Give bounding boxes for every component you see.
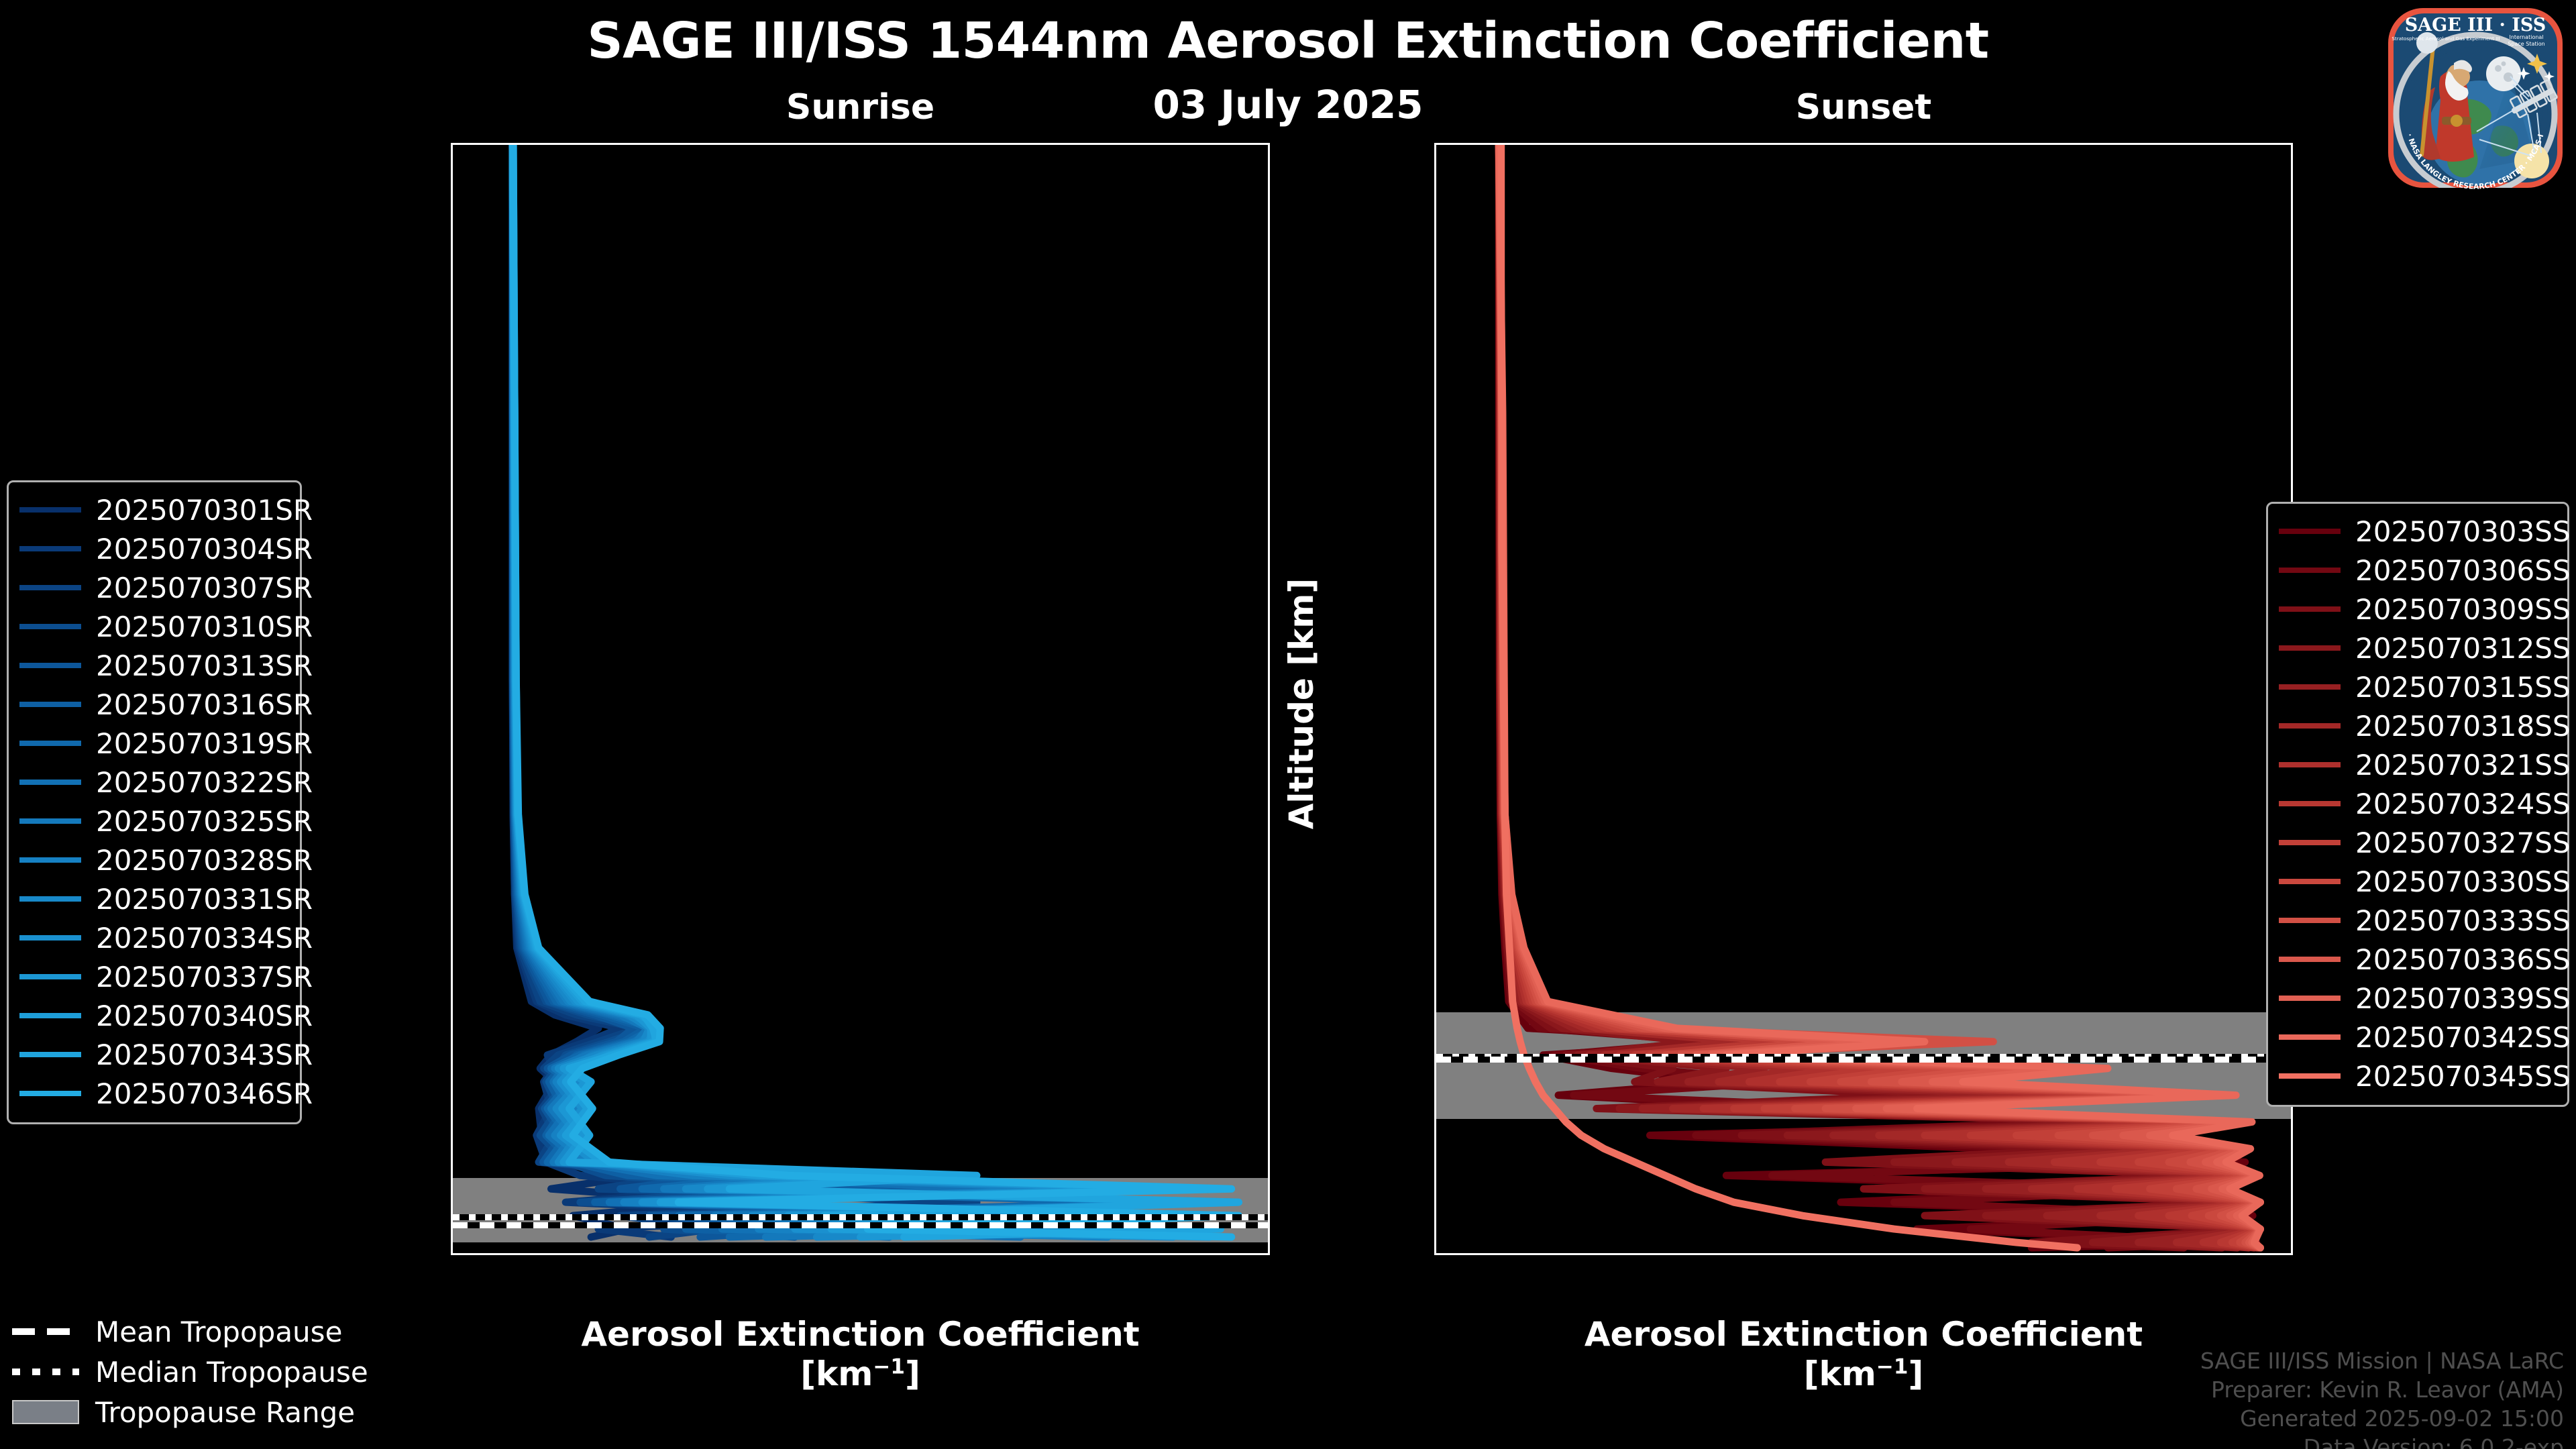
footer-preparer: Preparer: Kevin R. Leavor (AMA) [2200,1376,2564,1405]
legend-sunset-item[interactable]: 2025070327SS [2279,823,2557,862]
legend-sunrise-item[interactable]: 2025070322SR [19,763,289,802]
legend-sunset-label: 2025070324SS [2355,788,2571,820]
series-lines [453,145,1268,1253]
x-axis-units-sunrise: [km−1] [451,1354,1270,1394]
legend-sunset-item[interactable]: 2025070303SS [2279,512,2557,551]
legend-sunrise-item[interactable]: 2025070325SR [19,802,289,841]
y-axis-tick [451,278,453,280]
x-axis-tick [1802,1253,1804,1255]
y-axis-tick [451,1215,453,1217]
legend-sunrise-label: 2025070322SR [96,766,313,799]
x-axis-tick [1238,1253,1240,1255]
legend-sunrise-item[interactable]: 2025070337SR [19,957,289,996]
legend-sunset-label: 2025070309SS [2355,593,2571,626]
legend-sunrise-label: 2025070319SR [96,727,313,760]
legend-sunset-label: 2025070312SS [2355,632,2571,665]
legend-sunrise-label: 2025070325SR [96,805,313,838]
logo-subtitle-right-2: Space Station [2508,41,2544,47]
x-axis-tick [510,1253,512,1255]
line-swatch-icon [19,818,81,824]
legend-sunset-item[interactable]: 2025070312SS [2279,629,2557,667]
legend-sunset-label: 2025070303SS [2355,515,2571,548]
legend-sunrise-label: 2025070310SR [96,610,313,643]
x-axis-tick [2259,1253,2261,1255]
panel-title-sunset: Sunset [1434,87,2293,127]
legend-sunrise-item[interactable]: 2025070343SR [19,1035,289,1074]
mean-tropopause-line [453,1222,1268,1228]
series-line [513,145,1237,1237]
legend-sunrise-label: 2025070328SR [96,844,313,877]
legend-sunrise-label: 2025070301SR [96,494,313,527]
x-axis-units-sunset: [km−1] [1434,1354,2293,1394]
legend-sunset-label: 2025070333SS [2355,904,2571,937]
line-swatch-icon [19,1052,81,1057]
legend-sunrise-item[interactable]: 2025070307SR [19,568,289,607]
line-swatch-icon [2279,762,2341,767]
dotted-line-icon [12,1368,79,1375]
footer-generated: Generated 2025-09-02 15:00 [2200,1405,2564,1434]
plot-area-sunset [1436,145,2291,1253]
panel-title-sunrise: Sunrise [451,87,1270,127]
legend-sunset-item[interactable]: 2025070342SS [2279,1018,2557,1057]
line-swatch-icon [2279,996,2341,1001]
series-line [513,145,1130,1237]
y-axis-tick [451,680,453,682]
line-swatch-icon [2279,684,2341,690]
series-line [513,145,1224,1237]
y-axis-tick [1434,278,1436,280]
x-axis-tick [1954,1253,1956,1255]
line-swatch-icon [19,896,81,902]
legend-label-mean-tropopause: Mean Tropopause [95,1316,342,1348]
page-title: SAGE III/ISS 1544nm Aerosol Extinction C… [0,12,2576,70]
median-tropopause-line [453,1214,1268,1220]
logo-subtitle-right-1: International [2509,34,2543,40]
legend-sunset-item[interactable]: 2025070309SS [2279,590,2557,629]
legend-sunset-label: 2025070306SS [2355,554,2571,587]
line-swatch-icon [19,741,81,746]
legend-sunrise-label: 2025070331SR [96,883,313,916]
line-swatch-icon [19,702,81,707]
x-axis-tick [2107,1253,2109,1255]
series-line [513,145,1232,1237]
line-swatch-icon [19,1013,81,1018]
y-axis-tick [451,813,453,815]
legend-sunrise-label: 2025070304SR [96,533,313,566]
legend-sunset[interactable]: 2025070303SS2025070306SS2025070309SS2025… [2266,502,2569,1107]
series-line [513,145,1238,1237]
y-axis-tick [451,545,453,547]
legend-sunrise-item[interactable]: 2025070304SR [19,529,289,568]
x-axis-label-text-sunset: Aerosol Extinction Coefficient [1434,1315,2293,1354]
line-swatch-icon [2279,529,2341,534]
legend-label-median-tropopause: Median Tropopause [95,1356,368,1389]
legend-sunrise-item[interactable]: 2025070328SR [19,841,289,879]
footer-credits: SAGE III/ISS Mission | NASA LaRC Prepare… [2200,1347,2564,1449]
legend-sunset-label: 2025070327SS [2355,826,2571,859]
legend-sunset-label: 2025070330SS [2355,865,2571,898]
legend-sunrise-label: 2025070340SR [96,1000,313,1032]
line-swatch-icon [2279,879,2341,884]
legend-sunrise[interactable]: 2025070301SR2025070304SR2025070307SR2025… [7,480,302,1124]
legend-sunset-label: 2025070321SS [2355,749,2571,782]
legend-sunrise-item[interactable]: 2025070313SR [19,646,289,685]
line-swatch-icon [19,935,81,941]
legend-sunrise-label: 2025070334SR [96,922,313,955]
y-axis-tick [1434,680,1436,682]
sage-iii-iss-mission-patch-logo: SAGE III · ISS Stratospheric Aerosol and… [2379,1,2572,195]
x-axis-tick [1497,1253,1499,1255]
line-swatch-icon [2279,840,2341,845]
legend-sunrise-item[interactable]: 2025070331SR [19,879,289,918]
line-swatch-icon [2279,957,2341,962]
legend-sunrise-item[interactable]: 2025070334SR [19,918,289,957]
line-swatch-icon [19,546,81,551]
line-swatch-icon [19,1091,81,1096]
line-swatch-icon [19,780,81,785]
x-axis-tick [801,1253,803,1255]
legend-sunrise-item[interactable]: 2025070319SR [19,724,289,763]
series-lines [1436,145,2291,1253]
legend-sunrise-item[interactable]: 2025070340SR [19,996,289,1035]
legend-sunset-item[interactable]: 2025070318SS [2279,706,2557,745]
line-swatch-icon [2279,606,2341,612]
legend-sunset-item[interactable]: 2025070321SS [2279,745,2557,784]
y-axis-tick [451,144,453,146]
x-axis-tick [1649,1253,1651,1255]
series-line [513,145,1159,1237]
x-axis-label-text-sunrise: Aerosol Extinction Coefficient [451,1315,1270,1354]
legend-sunrise-label: 2025070316SR [96,688,313,721]
plot-sunrise: 1015202530354045500.0000.0020.0040.0060.… [451,143,1270,1255]
line-swatch-icon [2279,568,2341,573]
y-axis-tick [451,947,453,949]
series-line [1499,145,2260,1248]
series-line [513,145,1239,1237]
line-swatch-icon [19,585,81,590]
logo-title-text: SAGE III · ISS [2405,15,2546,36]
legend-sunrise-item[interactable]: 2025070310SR [19,607,289,646]
legend-sunrise-label: 2025070337SR [96,961,313,994]
legend-sunset-label: 2025070345SS [2355,1060,2571,1093]
x-axis-tick [655,1253,657,1255]
legend-sunrise-label: 2025070343SR [96,1038,313,1071]
legend-label-tropopause-range: Tropopause Range [95,1396,355,1429]
series-line [513,145,1210,1237]
line-swatch-icon [19,974,81,979]
dashed-line-icon [12,1328,79,1335]
y-axis-tick [451,1081,453,1083]
line-swatch-icon [2279,1034,2341,1040]
legend-item-tropopause-range: Tropopause Range [12,1392,388,1432]
y-axis-label-sunset: Altitude [km] [1282,556,1321,851]
series-line [513,145,1235,1237]
x-axis-label-sunset: Aerosol Extinction Coefficient [km−1] [1434,1315,2293,1394]
plot-sunset: 1015202530354045500.0000.0020.0040.0060.… [1434,143,2293,1255]
series-line [513,145,1035,1237]
line-swatch-icon [2279,918,2341,923]
line-swatch-icon [19,507,81,513]
legend-sunset-item[interactable]: 2025070330SS [2279,862,2557,901]
line-swatch-icon [2279,723,2341,729]
y-axis-tick [1434,545,1436,547]
y-axis-tick [1434,1215,1436,1217]
legend-sunset-item[interactable]: 2025070339SS [2279,979,2557,1018]
footer-mission: SAGE III/ISS Mission | NASA LaRC [2200,1347,2564,1376]
legend-sunrise-item[interactable]: 2025070346SR [19,1074,289,1113]
series-line [513,145,1235,1237]
legend-sunset-item[interactable]: 2025070306SS [2279,551,2557,590]
legend-sunrise-item[interactable]: 2025070316SR [19,685,289,724]
legend-item-mean-tropopause: Mean Tropopause [12,1311,388,1352]
y-axis-tick [451,412,453,414]
legend-sunset-label: 2025070339SS [2355,982,2571,1015]
legend-sunset-label: 2025070342SS [2355,1021,2571,1054]
mean-tropopause-line [1436,1057,2291,1063]
legend-sunrise-item[interactable]: 2025070301SR [19,490,289,529]
series-line [513,145,1239,1237]
line-swatch-icon [19,857,81,863]
line-swatch-icon [2279,645,2341,651]
legend-sunrise-label: 2025070346SR [96,1077,313,1110]
legend-sunset-item[interactable]: 2025070336SS [2279,940,2557,979]
filled-box-icon [12,1400,79,1424]
y-axis-tick [1434,1081,1436,1083]
plot-area-sunrise [453,145,1268,1253]
x-axis-label-sunrise: Aerosol Extinction Coefficient [km−1] [451,1315,1270,1394]
y-axis-tick [1434,947,1436,949]
legend-sunrise-label: 2025070313SR [96,649,313,682]
logo-subtitle-left: Stratospheric Aerosol and Gas Experiment… [2392,36,2500,42]
legend-sunset-label: 2025070315SS [2355,671,2571,704]
series-line [513,145,1238,1237]
legend-sunset-item[interactable]: 2025070333SS [2279,901,2557,940]
line-swatch-icon [2279,801,2341,806]
legend-sunset-item[interactable]: 2025070315SS [2279,667,2557,706]
footer-data-version: Data Version: 6.0.2-exp [2200,1434,2564,1449]
y-axis-tick [1434,412,1436,414]
tropopause-legend: Mean Tropopause Median Tropopause Tropop… [12,1311,388,1432]
line-swatch-icon [2279,1073,2341,1079]
legend-sunrise-label: 2025070307SR [96,572,313,604]
y-axis-tick [1434,144,1436,146]
legend-sunset-label: 2025070318SS [2355,710,2571,743]
legend-sunset-item[interactable]: 2025070324SS [2279,784,2557,823]
x-axis-tick [1092,1253,1094,1255]
line-swatch-icon [19,624,81,629]
y-axis-tick [1434,813,1436,815]
legend-sunset-item[interactable]: 2025070345SS [2279,1057,2557,1095]
x-axis-tick [947,1253,949,1255]
legend-item-median-tropopause: Median Tropopause [12,1352,388,1392]
legend-sunset-label: 2025070336SS [2355,943,2571,976]
line-swatch-icon [19,663,81,668]
